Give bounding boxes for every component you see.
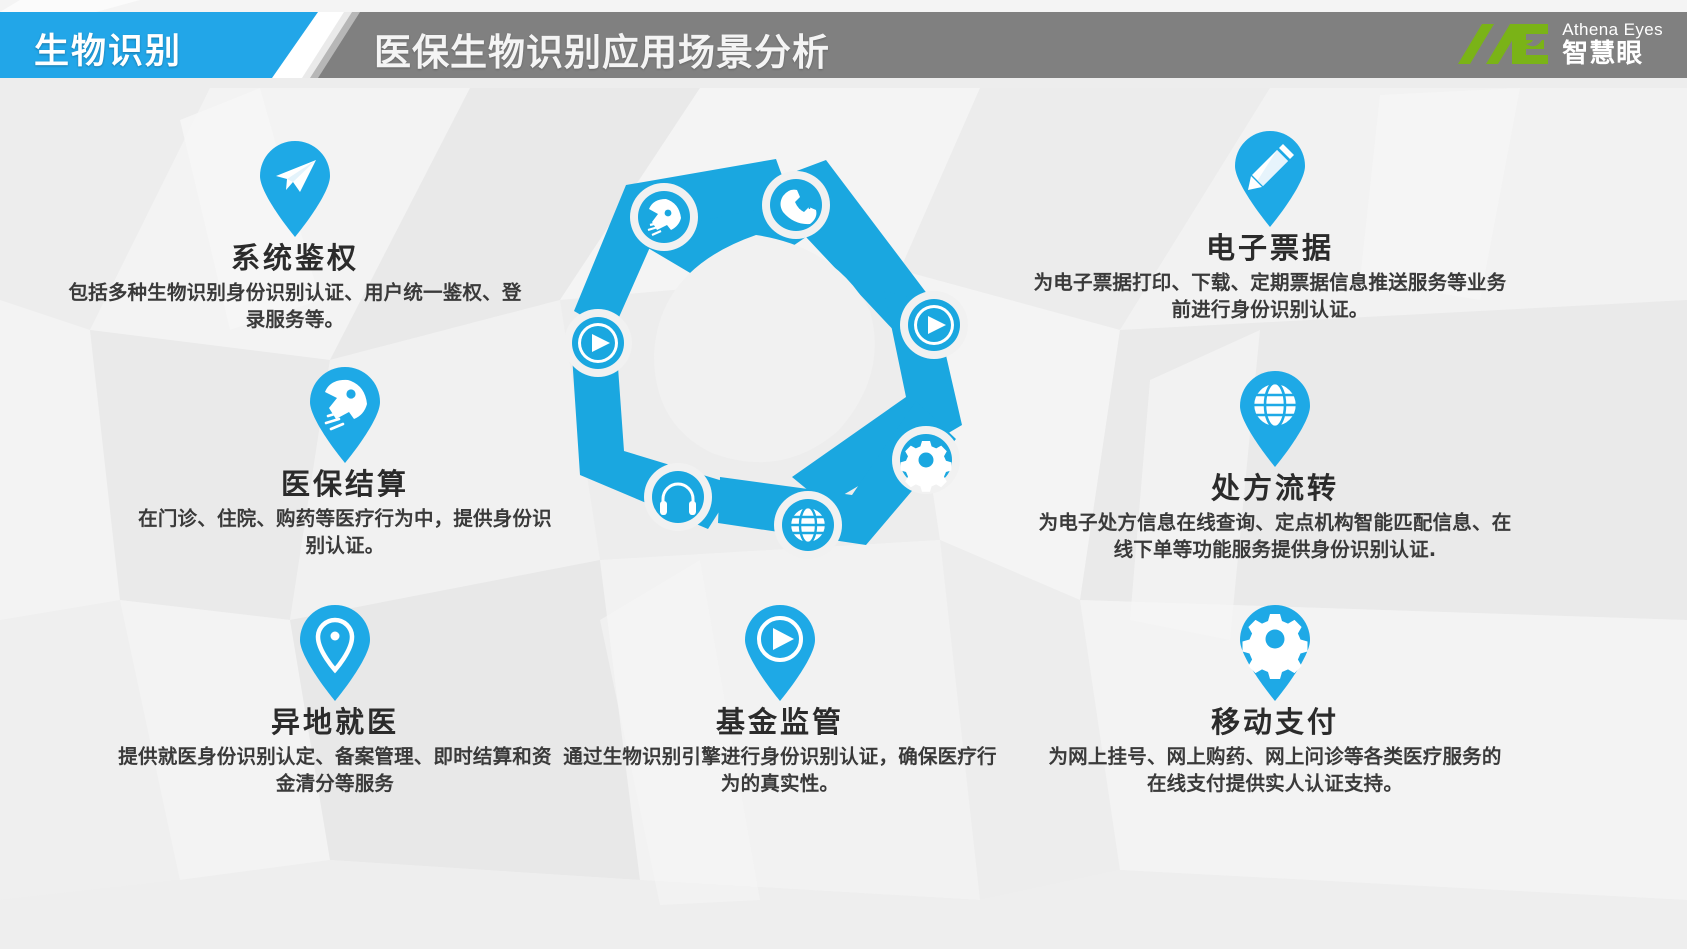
ae-monogram-icon [1456,22,1552,66]
gear-icon [1236,604,1314,702]
card-electronic-bill[interactable]: 电子票据 为电子票据打印、下载、定期票据信息推送服务等业务前进行身份识别认证。 [1030,130,1510,324]
card-title: 异地就医 [110,706,560,739]
card-description: 提供就医身份识别认定、备案管理、即时结算和资金清分等服务 [110,744,560,798]
section-tab-label: 生物识别 [34,23,264,74]
rocket-icon [306,366,384,464]
card-mobile-payment[interactable]: 移动支付 为网上挂号、网上购药、网上问诊等各类医疗服务的在线支付提供实人认证支持… [1040,604,1510,798]
card-title: 处方流转 [1035,472,1515,505]
paper-plane-icon [256,140,334,238]
pencil-icon [1231,130,1309,228]
logo-english-name: Athena Eyes [1562,21,1663,38]
card-fund-supervision[interactable]: 基金监管 通过生物识别引擎进行身份识别认证，确保医疗行为的真实性。 [560,604,1000,798]
page-title: 医保生物识别应用场景分析 [374,22,830,76]
card-prescription-circulation[interactable]: 处方流转 为电子处方信息在线查询、定点机构智能匹配信息、在线下单等功能服务提供身… [1035,370,1515,564]
card-description: 包括多种生物识别身份识别认证、用户统一鉴权、登录服务等。 [60,280,530,334]
card-title: 电子票据 [1030,232,1510,265]
svg-text:24: 24 [799,200,812,212]
slide-header: 生物识别 医保生物识别应用场景分析 Athena Eyes 智慧眼 [0,0,1687,88]
map-pin-icon [296,604,374,702]
card-title: 移动支付 [1040,706,1510,739]
card-title: 系统鉴权 [60,242,530,275]
card-system-auth[interactable]: 系统鉴权 包括多种生物识别身份识别认证、用户统一鉴权、登录服务等。 [60,140,530,334]
globe-icon [1236,370,1314,468]
card-offsite-medical-treatment[interactable]: 异地就医 提供就医身份识别认定、备案管理、即时结算和资金清分等服务 [110,604,560,798]
card-description: 通过生物识别引擎进行身份识别认证，确保医疗行为的真实性。 [560,744,1000,798]
brand-logo: Athena Eyes 智慧眼 [1456,18,1663,70]
card-medical-insurance-settlement[interactable]: 医保结算 在门诊、住院、购药等医疗行为中，提供身份识别认证。 [130,366,560,560]
logo-chinese-name: 智慧眼 [1562,41,1663,67]
card-title: 基金监管 [560,706,1000,739]
card-description: 为网上挂号、网上购药、网上问诊等各类医疗服务的在线支付提供实人认证支持。 [1040,744,1510,798]
play-circle-icon [741,604,819,702]
card-title: 医保结算 [130,468,560,501]
card-description: 为电子票据打印、下载、定期票据信息推送服务等业务前进行身份识别认证。 [1030,270,1510,324]
hexagonal-shutter-diagram: 24 [516,120,1016,590]
card-description: 在门诊、住院、购药等医疗行为中，提供身份识别认证。 [130,506,560,560]
logo-wordmark: Athena Eyes 智慧眼 [1562,21,1663,67]
slide-canvas: 生物识别 医保生物识别应用场景分析 Athena Eyes 智慧眼 [0,0,1687,949]
card-description: 为电子处方信息在线查询、定点机构智能匹配信息、在线下单等功能服务提供身份识别认证… [1035,510,1515,564]
